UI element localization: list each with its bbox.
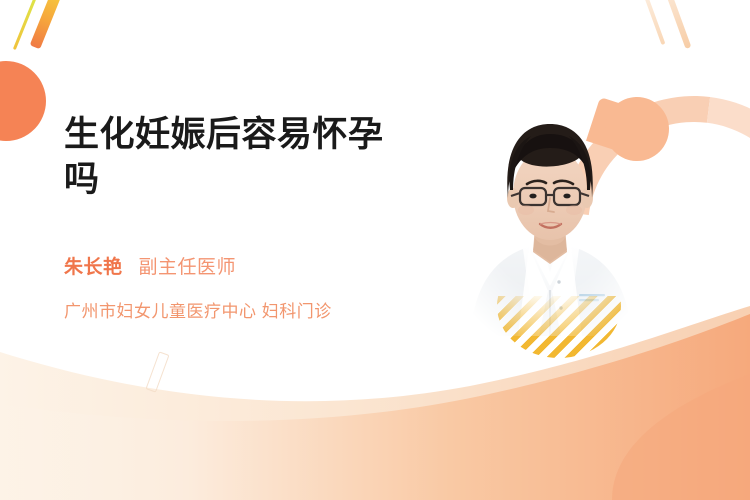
card-text-block: 生化妊娠后容易怀孕吗 朱长艳 副主任医师 广州市妇女儿童医疗中心 妇科门诊 bbox=[64, 112, 444, 322]
yellow-striped-bowl-icon bbox=[497, 296, 621, 420]
right-peach-arc-icon bbox=[509, 43, 750, 414]
top-right-stripe-b-icon bbox=[663, 0, 691, 49]
top-right-stripe-a-icon bbox=[641, 0, 665, 45]
bottom-left-outline-stripe-icon bbox=[145, 351, 169, 392]
left-orange-circle-icon bbox=[0, 61, 46, 141]
bottom-wave-back-icon bbox=[0, 300, 750, 500]
doctor-affiliation: 广州市妇女儿童医疗中心 妇科门诊 bbox=[64, 297, 444, 322]
page-title: 生化妊娠后容易怀孕吗 bbox=[64, 112, 409, 202]
right-arc-wedge-icon bbox=[586, 97, 644, 155]
right-arc-cap-icon bbox=[605, 97, 669, 161]
doctor-rank: 副主任医师 bbox=[139, 252, 237, 279]
bottom-wave-front-icon bbox=[0, 300, 750, 500]
video-thumbnail-card: 生化妊娠后容易怀孕吗 朱长艳 副主任医师 广州市妇女儿童医疗中心 妇科门诊 bbox=[0, 0, 750, 500]
doctor-meta-row: 朱长艳 副主任医师 bbox=[64, 252, 444, 279]
doctor-portrait-avatar bbox=[455, 86, 645, 336]
top-left-thin-stripe-icon bbox=[13, 0, 39, 50]
bottom-wave-right-icon bbox=[0, 300, 750, 500]
doctor-name: 朱长艳 bbox=[64, 252, 123, 279]
top-left-thick-stripe-icon bbox=[30, 0, 65, 49]
